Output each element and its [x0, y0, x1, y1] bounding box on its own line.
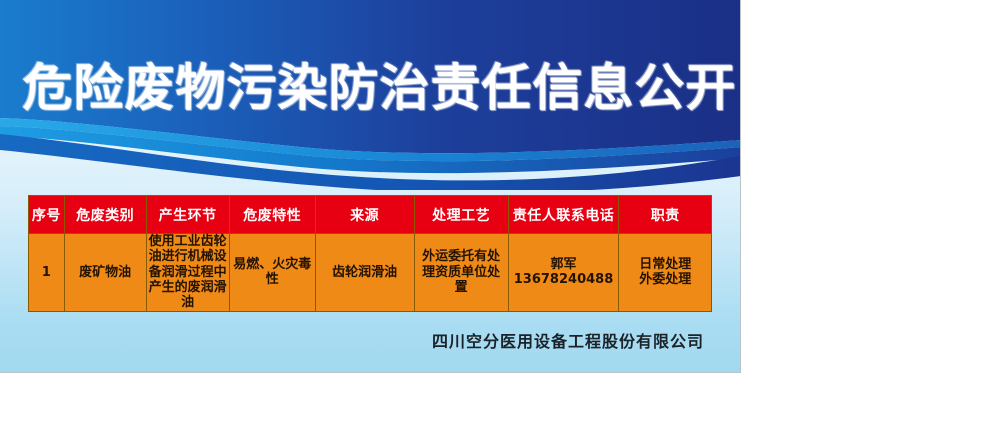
cell-treatment-process: 外运委托有处理资质单位处置: [414, 234, 508, 312]
duty-line-1: 日常处理: [621, 257, 709, 272]
hazardous-waste-information-poster: 危险废物污染防治责任信息公开 序号 危废类别 产生环节 危废特性 来源 处理工艺…: [0, 0, 741, 373]
table-row: 1 废矿物油 使用工业齿轮油进行机械设备润滑过程中产生的废润滑油 易燃、火灾毒性…: [29, 234, 712, 312]
column-header-category: 危废类别: [64, 196, 146, 234]
column-header-duty: 职责: [619, 196, 712, 234]
hazardous-waste-table: 序号 危废类别 产生环节 危废特性 来源 处理工艺 责任人联系电话 职责 1 废…: [28, 195, 712, 312]
cell-category: 废矿物油: [64, 234, 146, 312]
table-header-row: 序号 危废类别 产生环节 危废特性 来源 处理工艺 责任人联系电话 职责: [29, 196, 712, 234]
column-header-contact: 责任人联系电话: [508, 196, 619, 234]
contact-name: 郭军: [511, 257, 617, 272]
column-header-treatment: 处理工艺: [414, 196, 508, 234]
cell-hazard-property: 易燃、火灾毒性: [229, 234, 315, 312]
company-name: 四川空分医用设备工程股份有限公司: [28, 328, 712, 352]
cell-contact: 郭军 13678240488: [508, 234, 619, 312]
column-header-index: 序号: [29, 196, 65, 234]
duty-line-2: 外委处理: [621, 272, 709, 287]
cell-index: 1: [29, 234, 65, 312]
poster-banner: 危险废物污染防治责任信息公开: [0, 0, 741, 190]
contact-phone: 13678240488: [511, 272, 617, 287]
column-header-source: 来源: [315, 196, 414, 234]
column-header-stage: 产生环节: [146, 196, 229, 234]
page-title: 危险废物污染防治责任信息公开: [0, 48, 741, 120]
column-header-property: 危废特性: [229, 196, 315, 234]
cell-duty: 日常处理 外委处理: [619, 234, 712, 312]
cell-generation-stage: 使用工业齿轮油进行机械设备润滑过程中产生的废润滑油: [146, 234, 229, 312]
cell-source: 齿轮润滑油: [315, 234, 414, 312]
